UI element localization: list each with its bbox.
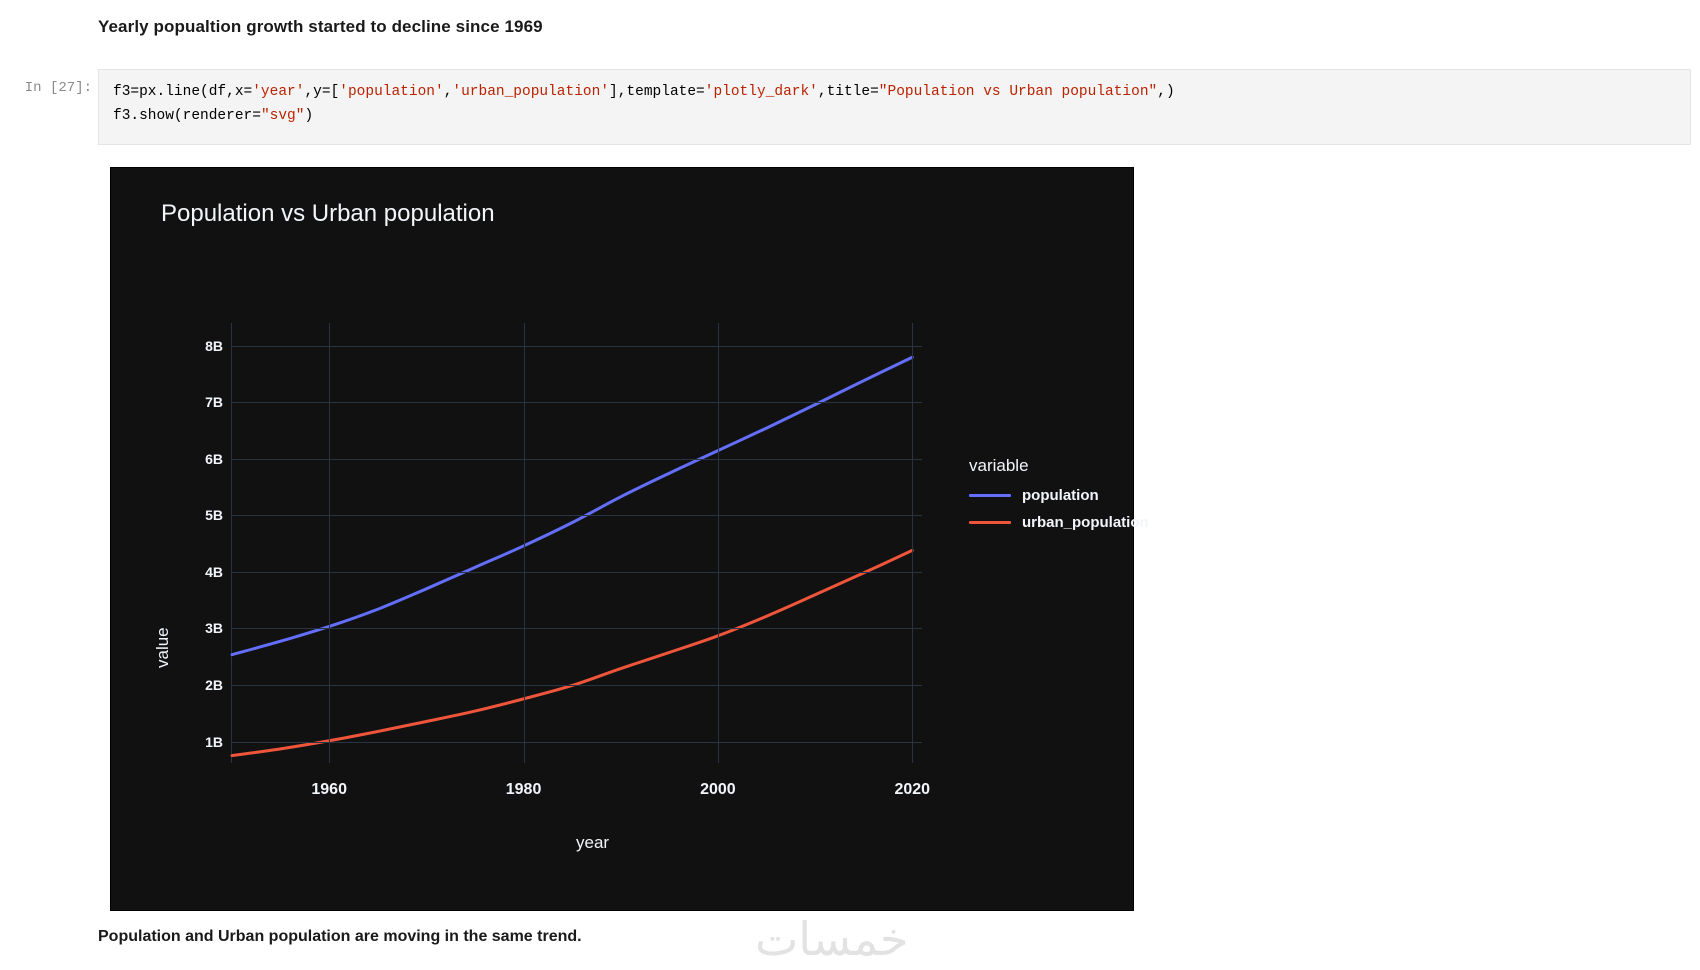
notebook-page: Yearly popualtion growth started to decl…: [0, 0, 1700, 970]
legend-swatch-icon: [969, 494, 1011, 497]
page-title: Yearly popualtion growth started to decl…: [98, 17, 543, 37]
code-token: ): [304, 108, 313, 124]
x-axis-tick-label: 1960: [311, 781, 347, 799]
y-axis-tick-label: 8B: [205, 338, 223, 354]
legend-swatch-icon: [969, 521, 1011, 524]
code-token: ,title=: [818, 84, 879, 100]
y-axis-title: value: [153, 627, 173, 668]
code-cell[interactable]: f3=px.line(df,x='year',y=['population','…: [98, 69, 1691, 145]
gridline-vertical: [912, 323, 913, 763]
legend-item-population[interactable]: population: [969, 487, 1149, 504]
y-axis-tick-label: 2B: [205, 677, 223, 693]
code-token: ],template=: [609, 84, 705, 100]
code-token: 'population': [339, 84, 443, 100]
gridline-horizontal: [232, 742, 922, 743]
gridline-horizontal: [232, 515, 922, 516]
gridline-vertical: [718, 323, 719, 763]
y-axis-tick-label: 6B: [205, 451, 223, 467]
watermark: خمسات: [755, 912, 908, 966]
gridline-vertical: [329, 323, 330, 763]
code-token: 'plotly_dark': [705, 84, 818, 100]
x-axis-title: year: [576, 833, 609, 853]
code-token: "svg": [261, 108, 305, 124]
x-axis-tick-label: 1980: [506, 781, 542, 799]
plot-lines-svg: [232, 323, 922, 763]
code-token: 'year': [252, 84, 304, 100]
gridline-horizontal: [232, 459, 922, 460]
y-axis-tick-label: 4B: [205, 564, 223, 580]
chart-caption: Population and Urban population are movi…: [98, 928, 582, 946]
cell-prompt-label: In [27]:: [0, 80, 92, 96]
code-token: "Population vs Urban population": [879, 84, 1157, 100]
y-axis-tick-label: 3B: [205, 620, 223, 636]
legend-item-label: population: [1022, 487, 1099, 504]
y-axis-tick-label: 1B: [205, 734, 223, 750]
code-line-1: f3=px.line(df,x='year',y=['population','…: [113, 80, 1678, 104]
gridline-horizontal: [232, 628, 922, 629]
legend-item-label: urban_population: [1022, 514, 1149, 531]
gridline-horizontal: [232, 346, 922, 347]
legend-item-urban_population[interactable]: urban_population: [969, 514, 1149, 531]
legend-title: variable: [969, 456, 1149, 476]
x-axis-tick-label: 2020: [894, 781, 930, 799]
chart-title: Population vs Urban population: [161, 200, 495, 228]
gridline-vertical: [524, 323, 525, 763]
chart-output-figure: Population vs Urban population value yea…: [110, 167, 1134, 911]
x-axis-tick-label: 2000: [700, 781, 736, 799]
code-line-2: f3.show(renderer="svg"): [113, 104, 1678, 128]
y-axis-tick-label: 5B: [205, 507, 223, 523]
series-line-urban_population: [232, 550, 912, 755]
gridline-horizontal: [232, 685, 922, 686]
y-axis-tick-label: 7B: [205, 394, 223, 410]
chart-legend: variable populationurban_population: [969, 456, 1149, 541]
code-token: ,y=[: [304, 84, 339, 100]
gridline-horizontal: [232, 572, 922, 573]
plot-area: 1B2B3B4B5B6B7B8B1960198020002020: [231, 323, 921, 763]
code-token: 'urban_population': [452, 84, 609, 100]
code-token: f3.show(renderer=: [113, 108, 261, 124]
code-token: ,): [1157, 84, 1174, 100]
gridline-horizontal: [232, 402, 922, 403]
code-token: f3=px.line(df,x=: [113, 84, 252, 100]
legend-item-list: populationurban_population: [969, 487, 1149, 531]
